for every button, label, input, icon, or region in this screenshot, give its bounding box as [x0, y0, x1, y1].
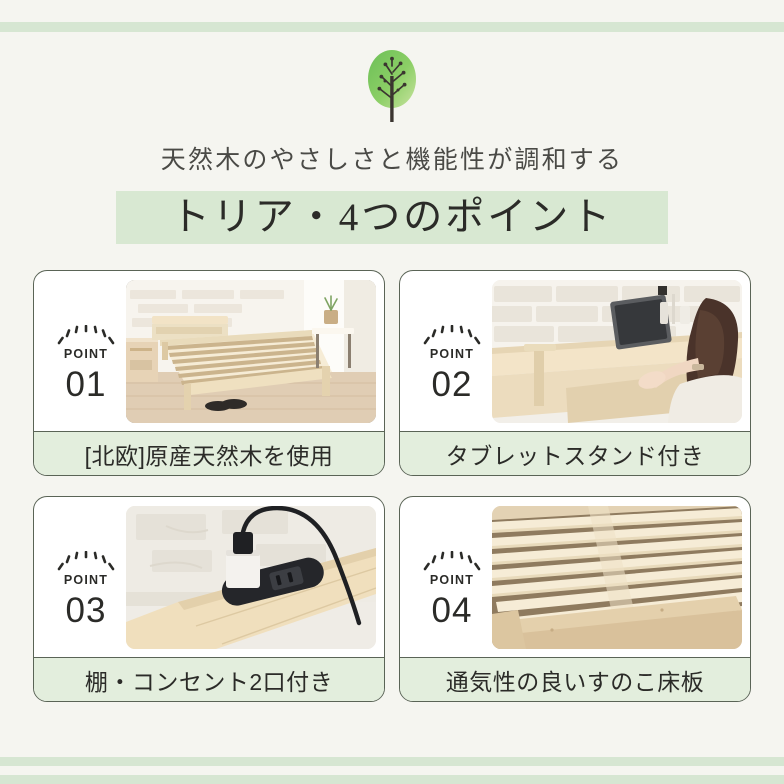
badge-rays-icon: [55, 325, 117, 347]
point-badge: POINT 04: [414, 551, 490, 628]
point-badge: POINT 02: [414, 325, 490, 402]
decorative-band-bottom-1: [0, 757, 784, 766]
card-label: タブレットスタンド付き: [446, 437, 705, 471]
card-label-band: 通気性の良いすのこ床板: [400, 657, 750, 701]
decorative-band-bottom-2: [0, 775, 784, 784]
card-label: 棚・コンセント2口付き: [85, 663, 333, 697]
badge-number: 03: [48, 593, 124, 628]
badge-label: POINT: [414, 574, 490, 587]
card-body: POINT 04: [400, 497, 750, 657]
card-body: POINT 01: [34, 271, 384, 431]
point-card-02[interactable]: POINT 02: [399, 270, 751, 476]
tree-icon: [349, 46, 435, 126]
card-label: [北欧]原産天然木を使用: [85, 437, 334, 471]
point-badge: POINT 03: [48, 551, 124, 628]
card-label-band: タブレットスタンド付き: [400, 431, 750, 475]
point-card-03[interactable]: POINT 03: [33, 496, 385, 702]
card-photo-slatted-base: [492, 506, 742, 649]
badge-label: POINT: [48, 348, 124, 361]
points-grid: POINT 01: [33, 270, 751, 702]
decorative-band-top: [0, 22, 784, 32]
badge-number: 04: [414, 593, 490, 628]
page-title: トリア・4つのポイント: [116, 191, 668, 244]
card-label-band: [北欧]原産天然木を使用: [34, 431, 384, 475]
badge-label: POINT: [48, 574, 124, 587]
card-photo-bed-frame: [126, 280, 376, 423]
badge-rays-icon: [55, 551, 117, 573]
card-label-band: 棚・コンセント2口付き: [34, 657, 384, 701]
card-photo-power-outlet: [126, 506, 376, 649]
card-label: 通気性の良いすのこ床板: [446, 663, 705, 697]
page-subtitle: 天然木のやさしさと機能性が調和する: [0, 140, 784, 176]
badge-label: POINT: [414, 348, 490, 361]
point-badge: POINT 01: [48, 325, 124, 402]
badge-number: 02: [414, 367, 490, 402]
infographic-page: 天然木のやさしさと機能性が調和する トリア・4つのポイント: [0, 0, 784, 784]
point-card-01[interactable]: POINT 01: [33, 270, 385, 476]
card-body: POINT 02: [400, 271, 750, 431]
card-body: POINT 03: [34, 497, 384, 657]
badge-rays-icon: [421, 551, 483, 573]
card-photo-tablet-stand: [492, 280, 742, 423]
point-card-04[interactable]: POINT 04: [399, 496, 751, 702]
page-header: 天然木のやさしさと機能性が調和する: [0, 46, 784, 176]
badge-number: 01: [48, 367, 124, 402]
badge-rays-icon: [421, 325, 483, 347]
